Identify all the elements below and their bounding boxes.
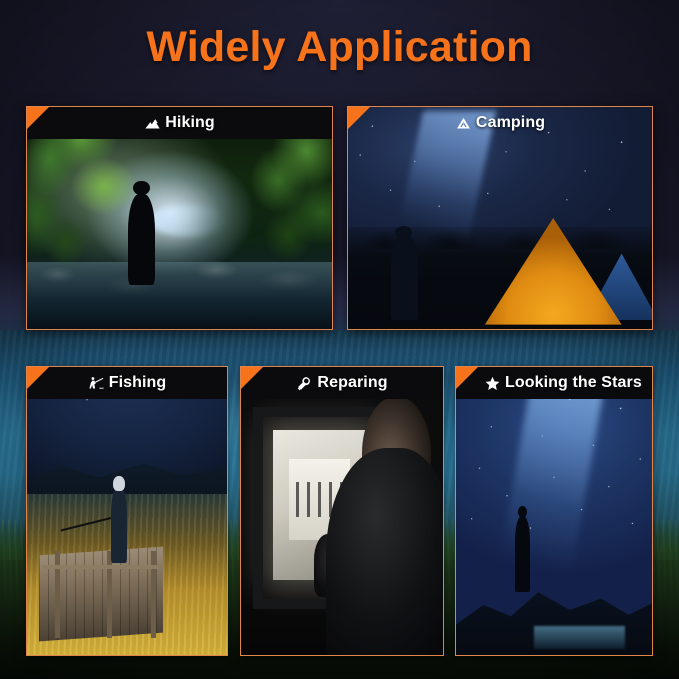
card-label-fishing: Fishing (27, 367, 227, 399)
card-hiking[interactable]: Hiking (26, 106, 333, 330)
wrench-gear-icon (296, 375, 313, 392)
card-label-looking-the-stars: Looking the Stars (456, 367, 652, 399)
card-label-camping: Camping (348, 107, 652, 139)
reparing-person-shoulder (326, 448, 444, 656)
card-fishing[interactable]: Fishing (26, 366, 228, 656)
card-looking-the-stars[interactable]: Looking the Stars (455, 366, 653, 656)
corner-accent-triangle (348, 107, 370, 129)
fishing-person (111, 488, 127, 563)
card-label-text: Camping (476, 114, 545, 132)
stars-lake (534, 626, 624, 649)
camping-photo (348, 107, 652, 329)
camping-person-silhouette (391, 236, 418, 320)
fishing-dock-rail (43, 565, 159, 569)
fishing-photo (27, 367, 227, 655)
corner-accent-triangle (27, 107, 49, 129)
card-camping[interactable]: Camping (347, 106, 653, 330)
corner-accent-triangle (456, 367, 478, 389)
fishing-angler-icon (88, 375, 105, 392)
page-title: Widely Application (0, 16, 679, 78)
hiking-flashlight-beam (149, 205, 228, 236)
tent-icon (455, 115, 472, 132)
card-label-text: Fishing (109, 374, 167, 392)
stars-photo (456, 367, 652, 655)
corner-accent-triangle (27, 367, 49, 389)
stars-person-silhouette (515, 517, 531, 592)
reparing-photo (241, 367, 443, 655)
card-label-text: Reparing (317, 374, 387, 392)
hiking-person-silhouette (128, 194, 155, 285)
hiking-river (27, 262, 332, 329)
mountain-range-icon (144, 115, 161, 132)
card-label-reparing: Reparing (241, 367, 443, 399)
card-label-text: Looking the Stars (505, 374, 642, 392)
star-icon (484, 375, 501, 392)
corner-accent-triangle (241, 367, 263, 389)
card-label-text: Hiking (165, 114, 215, 132)
hiking-photo (27, 107, 332, 329)
card-label-hiking: Hiking (27, 107, 332, 139)
card-reparing[interactable]: Reparing (240, 366, 444, 656)
